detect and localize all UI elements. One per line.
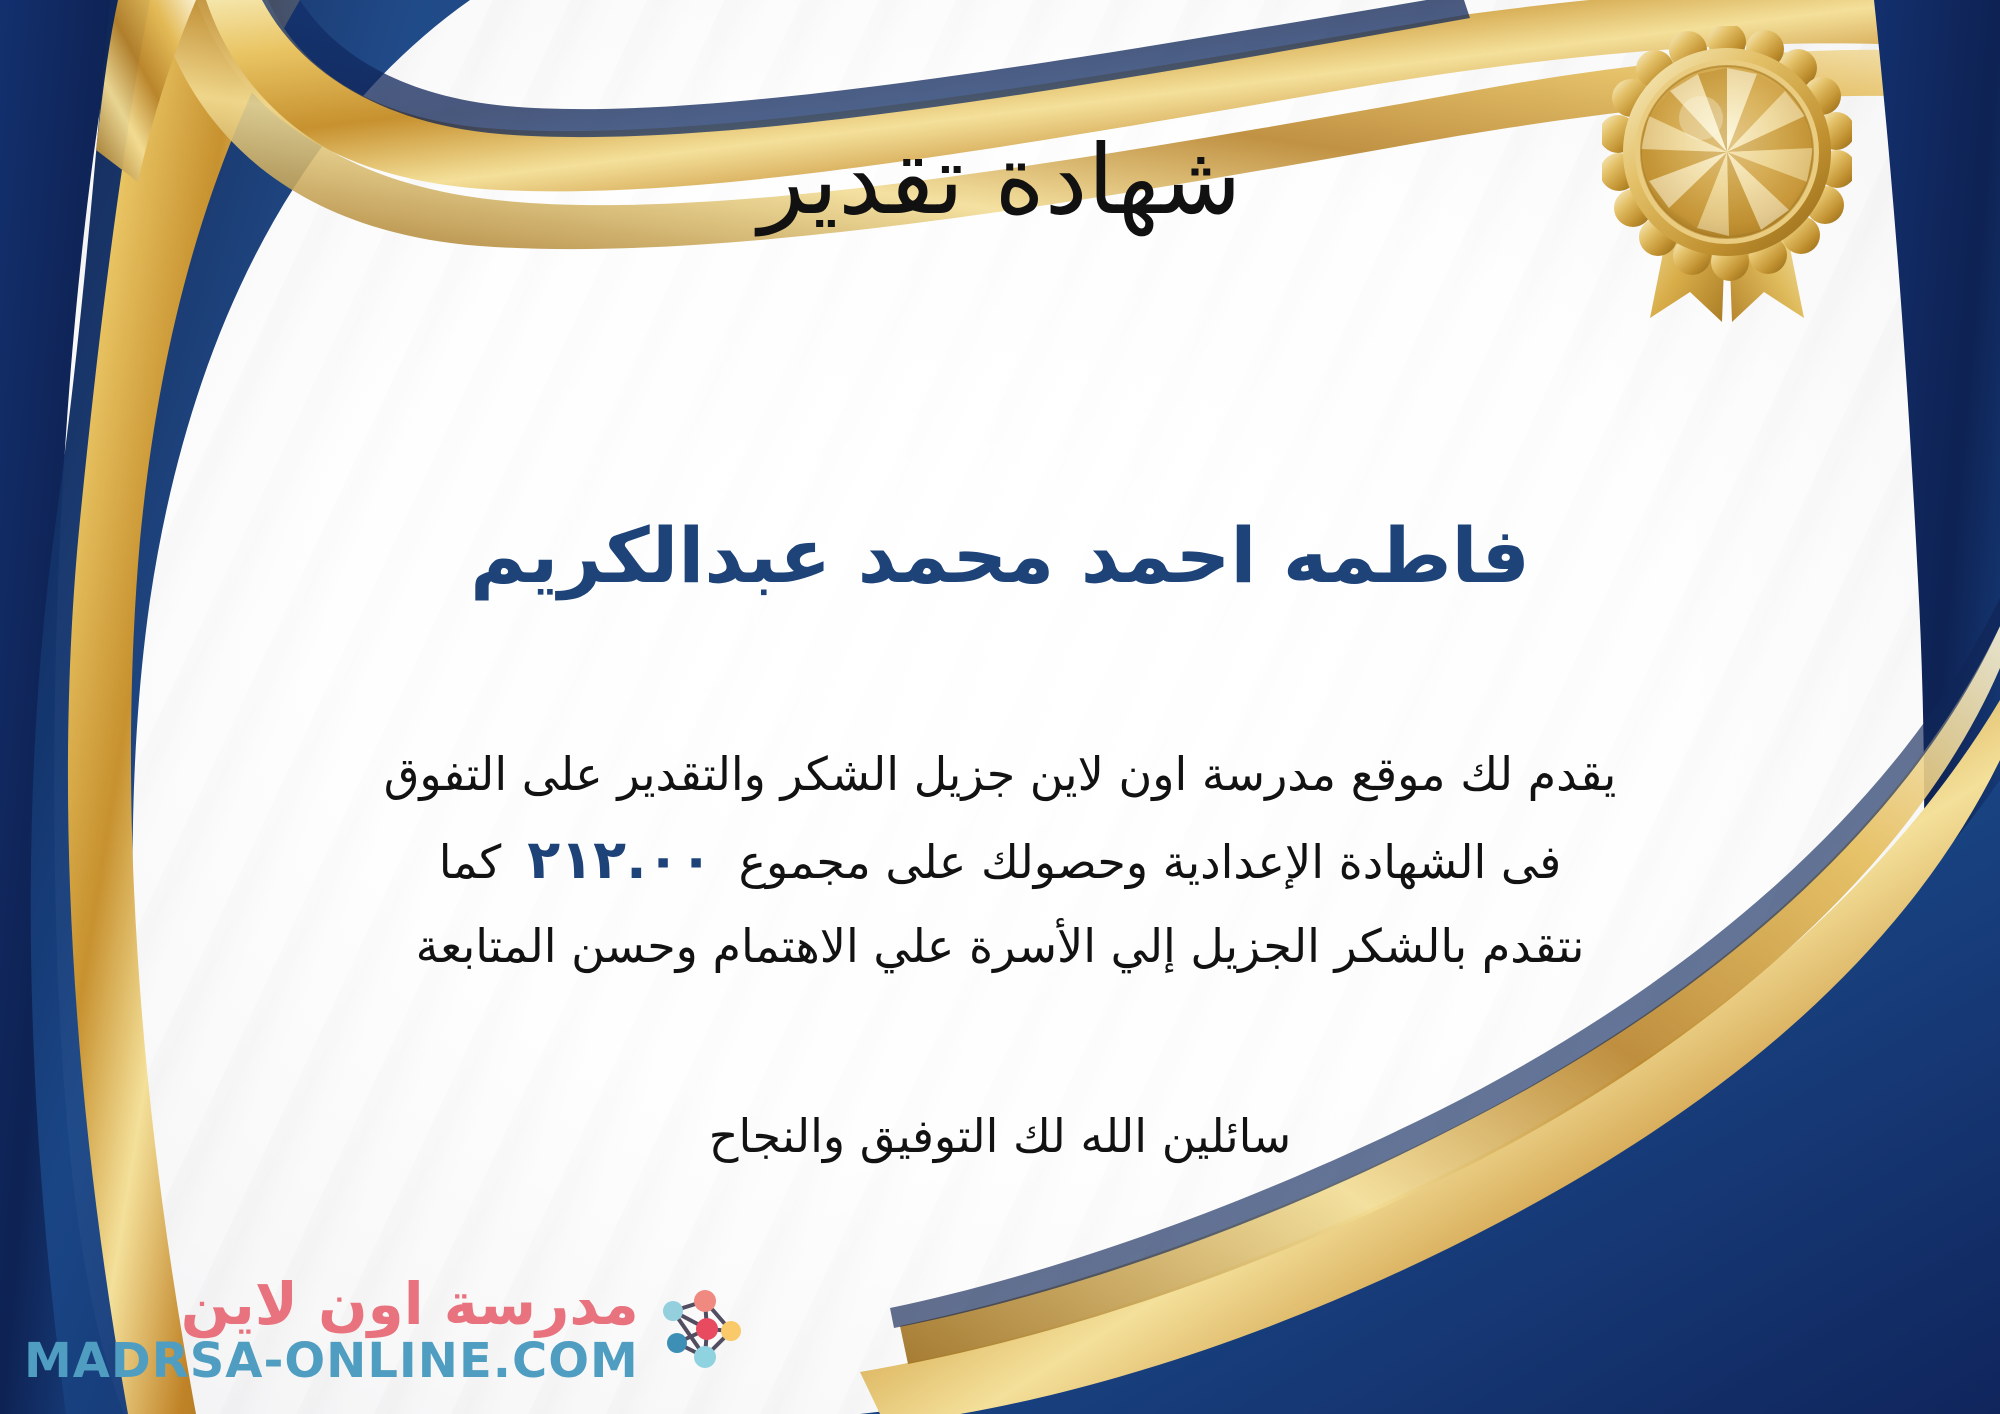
body-line-2-prefix: فى الشهادة الإعدادية وحصولك على مجموع [739,835,1562,889]
brand-row: مدرسة اون لاين MADRSA-ONLINE.COM [24,1273,749,1386]
score-value: ٢١٢.٠٠ [501,828,738,891]
body-line-1: يقدم لك موقع مدرسة اون لاين جزيل الشكر و… [55,735,1945,814]
brand-arabic-name: مدرسة اون لاين [181,1273,639,1336]
body-text: يقدم لك موقع مدرسة اون لاين جزيل الشكر و… [55,735,1945,986]
recipient-name: فاطمه احمد محمد عبدالكريم [0,510,2000,601]
certificate-content: شهادة تقدير فاطمه احمد محمد عبدالكريم يق… [0,0,2000,1414]
brand-logo[interactable]: مدرسة اون لاين MADRSA-ONLINE.COM [24,1273,749,1386]
network-nodes-icon [653,1281,749,1377]
brand-website: MADRSA-ONLINE.COM [24,1336,639,1386]
body-line-2: فى الشهادة الإعدادية وحصولك على مجموع٢١٢… [55,814,1945,907]
brand-texts: مدرسة اون لاين MADRSA-ONLINE.COM [24,1273,639,1386]
body-line-2-suffix: كما [439,835,502,889]
closing-line: سائلين الله لك التوفيق والنجاح [0,1100,2000,1174]
page-title: شهادة تقدير [0,128,2000,234]
certificate-page: شهادة تقدير فاطمه احمد محمد عبدالكريم يق… [0,0,2000,1414]
body-line-3: نتقدم بالشكر الجزيل إلي الأسرة علي الاهت… [55,907,1945,986]
